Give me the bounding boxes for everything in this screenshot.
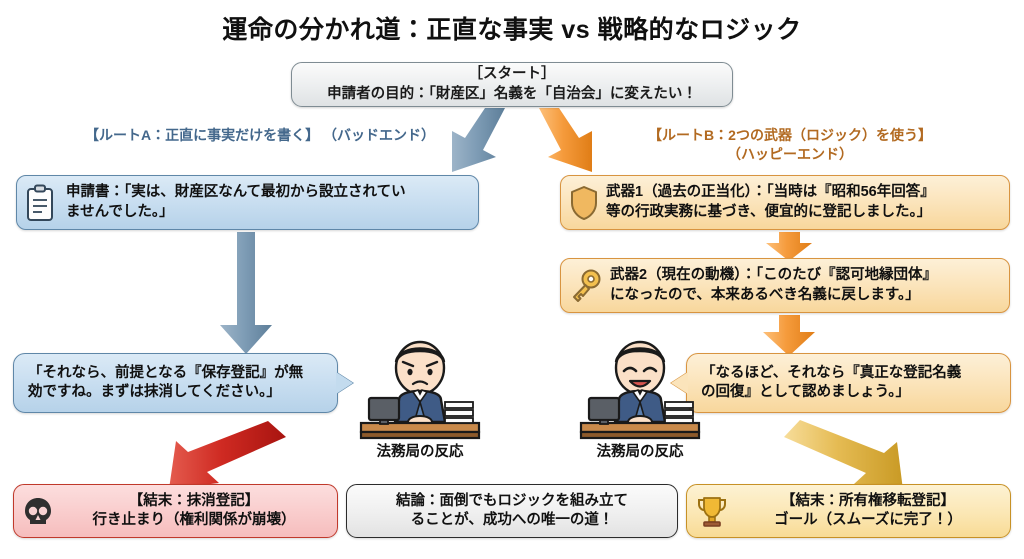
route-b-reaction-line1: 「なるほど、それなら『真正な登記名義	[701, 364, 961, 383]
route-b-weapon1-node: 武器1（過去の正当化）：「当時は『昭和56年回答』 等の行政実務に基づき、便宜的…	[560, 175, 1010, 230]
route-a-result-line2: 行き止まり（権利関係が崩壊）	[61, 511, 327, 530]
route-b-caption-line2: （ハッピーエンド）	[727, 146, 853, 162]
start-node: ［スタート］ 申請者の目的：「財産区」名義を「自治会」に変えたい！	[291, 62, 733, 107]
route-b-result-line1: 【結末：所有権移転登記】	[736, 492, 1000, 511]
route-a-reaction-line2: 効ですね。まずは抹消してください。」	[28, 383, 303, 402]
route-b-weapon1-line1: 武器1（過去の正当化）：「当時は『昭和56年回答』	[606, 183, 935, 202]
route-a-caption: 【ルートA：正直に事実だけを書く】 （バッドエンド）	[75, 126, 445, 145]
trophy-icon	[695, 494, 729, 528]
arrow-routeB-goal	[784, 420, 903, 490]
diagram-canvas: 運命の分かれ道：正直な事実 vs 戦略的なロジック	[0, 0, 1024, 559]
arrow-routeB-w1-w2	[766, 232, 812, 261]
route-b-reaction-bubble: 「なるほど、それなら『真正な登記名義 の回復』として認めましょう。」	[686, 353, 1011, 413]
conclusion-line2: ることが、成功への唯一の道！	[396, 511, 628, 530]
start-label-line2: 申請者の目的：「財産区」名義を「自治会」に変えたい！	[327, 85, 697, 104]
clipboard-icon	[25, 184, 55, 222]
arrow-branch-left	[452, 108, 505, 172]
arrow-routeB-w2-react	[763, 315, 815, 356]
arrow-routeA-badend	[169, 421, 286, 489]
route-a-bubble-tail	[336, 372, 353, 394]
arrow-routeA-down	[220, 232, 272, 354]
route-b-weapon2-line2: になったので、本来あるべき名義に戻します。」	[610, 286, 937, 305]
skull-icon	[22, 495, 54, 527]
route-a-reaction-line1: 「それなら、前提となる『保存登記』が無	[28, 364, 303, 383]
route-b-clerk-label: 法務局の反応	[565, 440, 715, 461]
route-a-application-node: 申請書：「実は、財産区なんて最初から設立されてい ませんでした。」	[16, 175, 479, 230]
clerk-sad-illustration	[355, 340, 485, 440]
route-b-caption: 【ルートB：2つの武器（ロジック）を使う】 （ハッピーエンド）	[585, 126, 995, 164]
route-a-result-line1: 【結末：抹消登記】	[61, 492, 327, 511]
route-a-application-line2: ませんでした。」	[62, 203, 406, 222]
shield-icon	[569, 185, 599, 221]
route-b-weapon2-node: 武器2（現在の動機）：「このたび『認可地縁団体』 になったので、本来あるべき名義…	[560, 258, 1010, 313]
route-a-clerk-label: 法務局の反応	[345, 440, 495, 461]
route-a-reaction-bubble: 「それなら、前提となる『保存登記』が無 効ですね。まずは抹消してください。」	[13, 353, 338, 413]
route-b-caption-line1: 【ルートB：2つの武器（ロジック）を使う】	[648, 127, 932, 143]
route-b-weapon1-line2: 等の行政実務に基づき、便宜的に登記しました。」	[606, 203, 935, 222]
conclusion-node: 結論：面倒でもロジックを組み立て ることが、成功への唯一の道！	[346, 484, 678, 538]
route-b-result-node: 【結末：所有権移転登記】 ゴール（スムーズに完了！）	[686, 484, 1011, 538]
start-label-line1: ［スタート］	[327, 65, 697, 84]
conclusion-line1: 結論：面倒でもロジックを組み立て	[396, 492, 628, 511]
route-a-application-line1: 申請書：「実は、財産区なんて最初から設立されてい	[62, 183, 406, 202]
page-title: 運命の分かれ道：正直な事実 vs 戦略的なロジック	[0, 10, 1024, 46]
clerk-happy-illustration	[575, 340, 705, 440]
route-a-result-node: 【結末：抹消登記】 行き止まり（権利関係が崩壊）	[13, 484, 338, 538]
key-icon	[569, 268, 603, 304]
route-b-result-line2: ゴール（スムーズに完了！）	[736, 511, 1000, 530]
route-b-reaction-line2: の回復』として認めましょう。」	[701, 383, 961, 402]
route-b-weapon2-line1: 武器2（現在の動機）：「このたび『認可地縁団体』	[610, 266, 937, 285]
route-a-caption-line1: 【ルートA：正直に事実だけを書く】	[85, 127, 319, 143]
route-a-caption-line2: （バッドエンド）	[323, 127, 435, 143]
